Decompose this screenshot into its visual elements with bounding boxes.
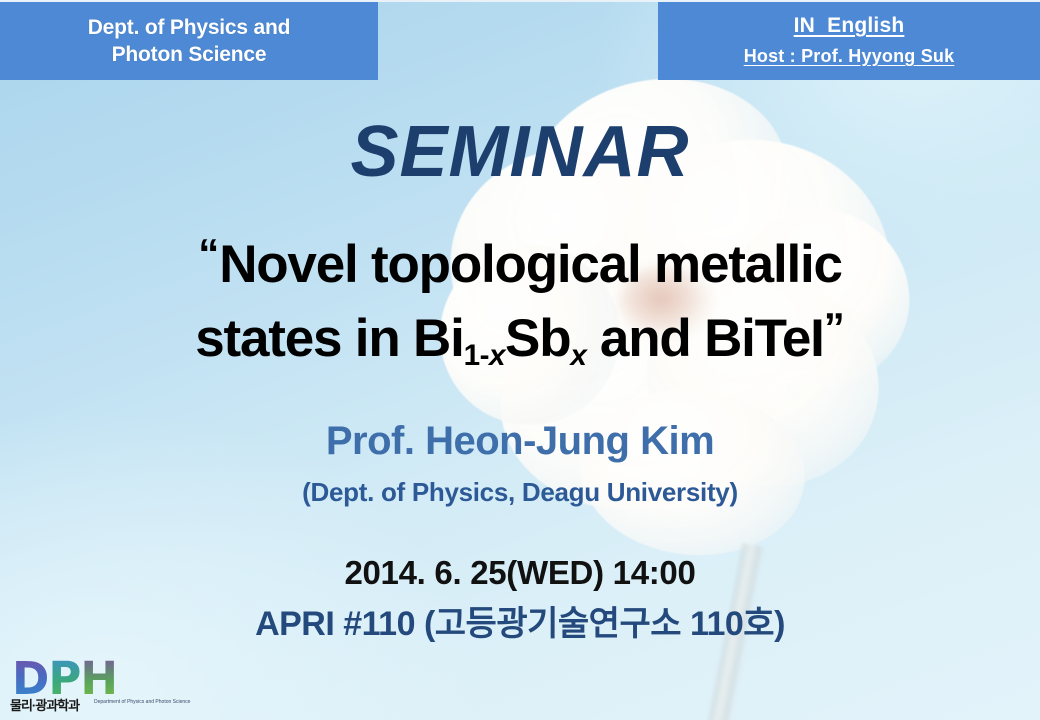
talk-title: “Novel topological metallic states in Bi…	[0, 222, 1040, 370]
logo-english-name: Department of Physics and Photon Science	[94, 699, 190, 705]
poster-content: SEMINAR “Novel topological metallic stat…	[0, 0, 1040, 720]
logo-letter-h: H	[80, 652, 117, 705]
speaker-affiliation: (Dept. of Physics, Deagu University)	[0, 476, 1040, 508]
talk-title-line-1: “Novel topological metallic	[0, 222, 1040, 296]
talk-title-text-1: Novel topological metallic	[219, 235, 842, 294]
seminar-poster: Dept. of Physics and Photon Science IN E…	[0, 0, 1040, 720]
dph-logo: DPH 물리·광과학과 Department of Physics and Ph…	[8, 657, 130, 715]
subscript-1-minus: 1-	[464, 339, 489, 372]
speaker-name: Prof. Heon-Jung Kim	[0, 417, 1040, 465]
logo-korean-name: 물리·광과학과	[10, 699, 79, 713]
subscript-one-minus-x: 1-x	[464, 339, 505, 372]
talk-title-text-2a: states in Bi	[195, 309, 463, 368]
dph-logo-letters: DPH	[12, 657, 117, 701]
subscript-x-italic: x	[489, 339, 505, 372]
event-venue: APRI #110 (고등광기술연구소 110호)	[0, 603, 1040, 645]
talk-title-line-2: states in Bi1-xSbx and BiTeI”	[0, 296, 1040, 370]
subscript-x: x	[570, 339, 586, 372]
open-quote: “	[198, 230, 219, 277]
event-datetime: 2014. 6. 25(WED) 14:00	[0, 553, 1040, 593]
talk-title-text-2c: and BiTeI	[586, 309, 823, 368]
seminar-kicker: SEMINAR	[0, 112, 1040, 192]
talk-title-text-2b: Sb	[505, 309, 570, 368]
close-quote: ”	[824, 304, 845, 351]
